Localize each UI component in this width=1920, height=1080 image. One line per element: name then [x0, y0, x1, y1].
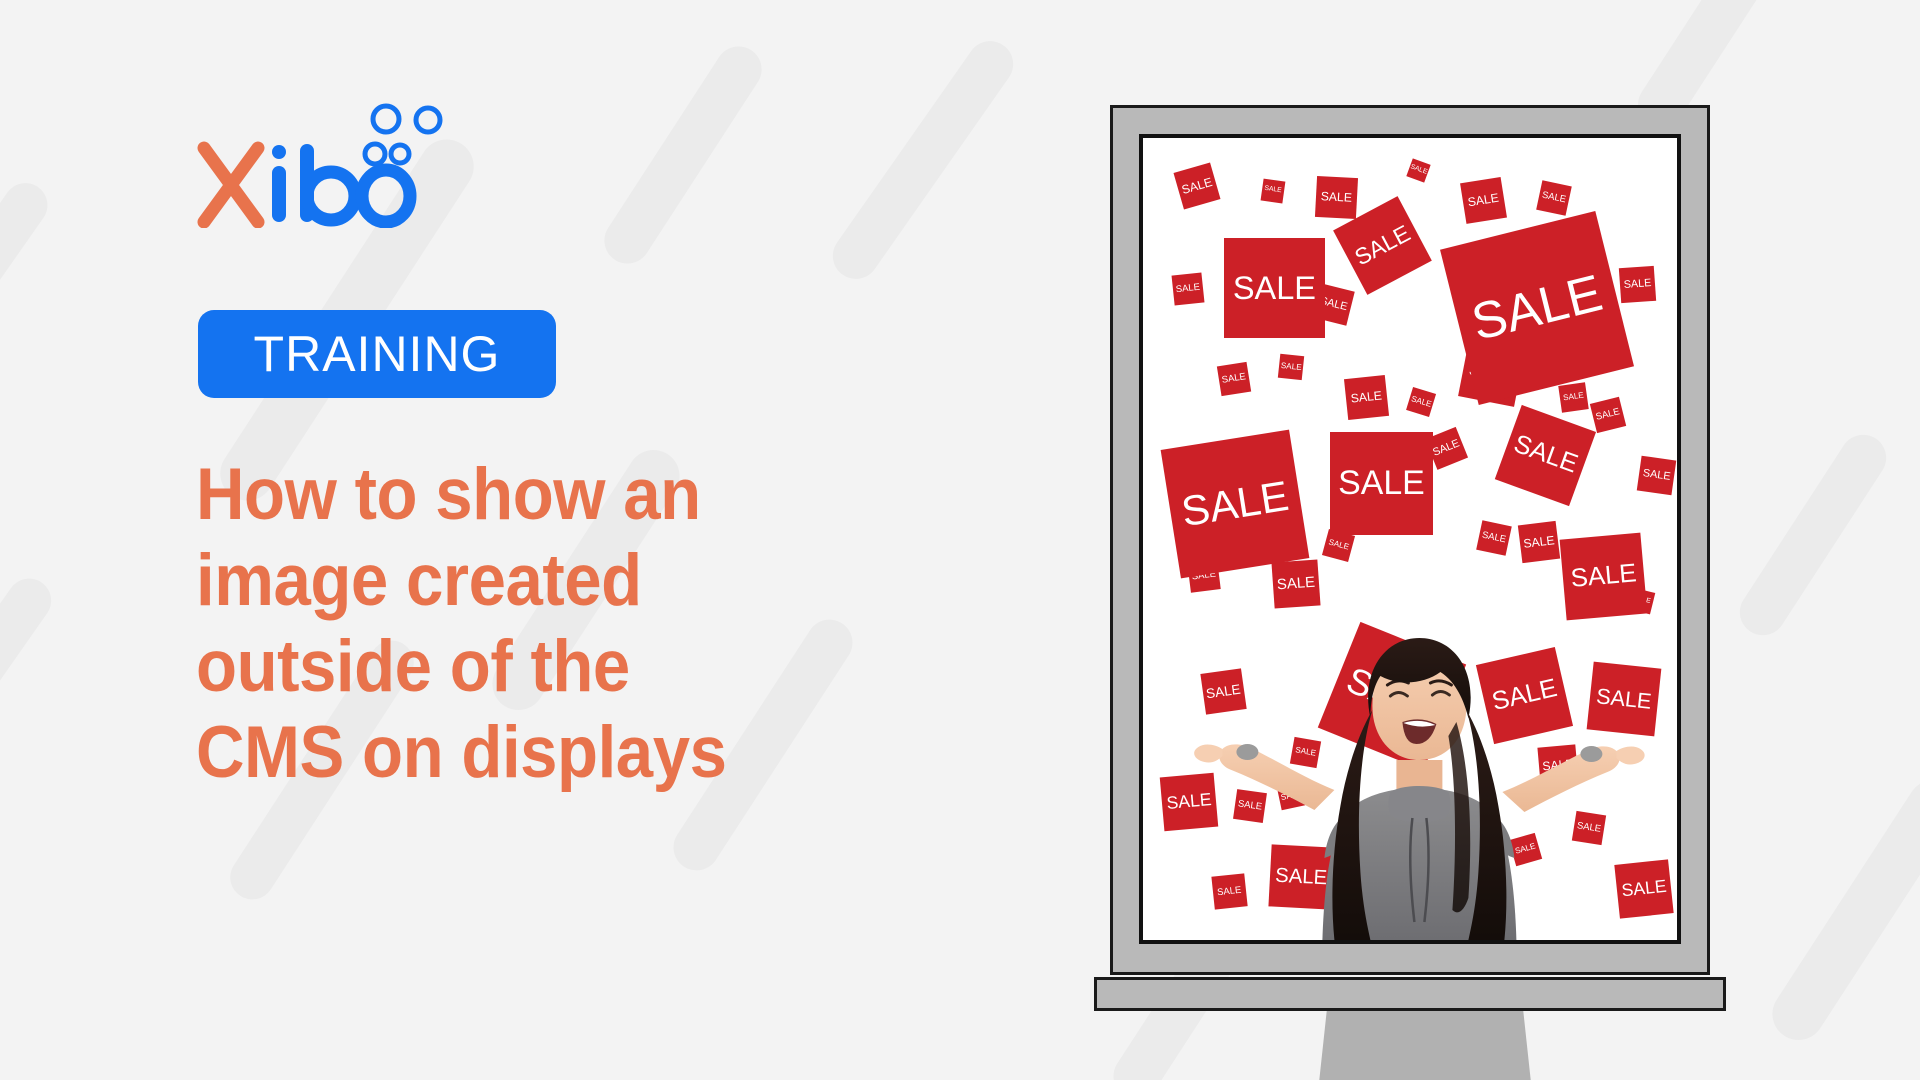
sale-tile-label: SALE: [1432, 438, 1462, 458]
sale-tile-label: SALE: [1541, 191, 1567, 205]
sale-tile-label: SALE: [1233, 272, 1316, 305]
sale-tile: SALE: [1269, 844, 1335, 910]
sale-tile-label: SALE: [1295, 747, 1317, 759]
training-badge[interactable]: TRAINING: [198, 310, 556, 398]
sale-tile-label: SALE: [1338, 467, 1425, 501]
logo-bubble-large-right: [416, 108, 440, 132]
sale-tile-label: SALE: [1350, 390, 1382, 405]
display-stand-bar: [1094, 977, 1726, 1011]
sale-tile: SALE: [1174, 163, 1221, 210]
xibo-logo[interactable]: [196, 96, 456, 226]
sale-tile: SALE: [1590, 397, 1626, 433]
sale-tile: SALE: [1161, 429, 1310, 578]
sale-tile: SALE: [1637, 456, 1677, 496]
sale-tile: SALE: [1212, 873, 1248, 909]
sale-tile: SALE: [1518, 520, 1560, 562]
sale-tile-label: SALE: [1280, 362, 1302, 372]
sale-tile-label: SALE: [1342, 661, 1442, 730]
sale-tile: SALE: [1272, 560, 1321, 609]
decorative-diagonal-bar: [0, 570, 60, 800]
sale-tile: SALE: [1318, 622, 1466, 770]
sale-tile: SALE: [1537, 744, 1578, 785]
sale-tile: SALE: [1330, 432, 1433, 535]
sale-tile: SALE: [1406, 387, 1436, 417]
sale-tile-label: SALE: [1576, 822, 1601, 835]
sale-tile: SALE: [1508, 833, 1542, 867]
sale-tile: SALE: [1200, 669, 1246, 715]
logo-bubbles: [365, 106, 440, 164]
page-title: How to show animage createdoutside of th…: [196, 452, 840, 796]
sale-tile-label: SALE: [1166, 791, 1212, 812]
sale-tile-label: SALE: [1217, 885, 1242, 897]
bracelet-left: [1236, 744, 1258, 760]
sale-tile: SALE: [1276, 782, 1305, 811]
sale-tile: SALE: [1560, 532, 1648, 620]
sale-tile-label: SALE: [1409, 164, 1428, 176]
sale-tile-label: SALE: [1510, 432, 1581, 479]
sale-tile-label: SALE: [1205, 682, 1241, 700]
sale-tile-label: SALE: [1490, 676, 1560, 716]
sale-tile: SALE: [1171, 272, 1204, 305]
sale-tile: SALE: [1261, 179, 1285, 203]
logo-bubble-small-left: [365, 144, 385, 164]
sale-tile-label: SALE: [1563, 392, 1585, 403]
sale-tile-label: SALE: [1410, 395, 1432, 409]
sale-tile-label: SALE: [1327, 539, 1349, 552]
sale-tile-label: SALE: [1280, 790, 1302, 802]
logo-letter-i: [272, 145, 286, 222]
logo-letter-o: [362, 170, 410, 222]
sale-tile-label: SALE: [1351, 222, 1414, 270]
logo-letter-b: [300, 144, 355, 222]
sale-tile-label: SALE: [1181, 176, 1214, 196]
sale-tile-label: SALE: [1275, 865, 1328, 888]
sale-tile: SALE: [1233, 789, 1267, 823]
sale-tile-label: SALE: [1522, 534, 1554, 550]
page-title-line: How to show an: [196, 452, 840, 538]
sale-tile: SALE: [1217, 362, 1251, 396]
sale-tile: SALE: [1619, 266, 1657, 304]
xibo-logo-svg: [196, 96, 456, 228]
sale-tile-label: SALE: [1321, 190, 1353, 204]
sale-tile-label: SALE: [1642, 468, 1671, 483]
sale-tile: SALE: [1344, 375, 1389, 420]
page-title-line: outside of the: [196, 624, 840, 710]
sale-tile: SALE: [1476, 647, 1574, 745]
necklace: [1410, 818, 1414, 922]
sale-tile-label: SALE: [1621, 878, 1668, 900]
display-bezel: SALESALESALESALESALESALESALESALESALESALE…: [1110, 105, 1710, 975]
bracelet-right: [1580, 746, 1602, 762]
sale-tile: SALE: [1587, 661, 1661, 735]
logo-bubble-large-left: [373, 106, 399, 132]
sale-tile: SALE: [1615, 859, 1675, 919]
sale-tile-label: SALE: [1467, 268, 1607, 350]
sale-tile: SALE: [1277, 353, 1304, 380]
decorative-diagonal-bar: [1731, 426, 1895, 644]
sale-tile: SALE: [1290, 737, 1321, 768]
sale-tile-label: SALE: [1467, 192, 1500, 209]
sale-tile-label: SALE: [1481, 530, 1507, 544]
display-stand-neck: [1308, 1011, 1542, 1080]
display-mockup: SALESALESALESALESALESALESALESALESALESALE…: [1110, 105, 1750, 1080]
sale-tile-label: SALE: [1264, 186, 1282, 195]
logo-x-mark: [204, 148, 258, 222]
sale-tile: SALE: [1406, 158, 1430, 182]
sale-tile: SALE: [1536, 180, 1571, 215]
sale-tile-label: SALE: [1570, 560, 1638, 591]
display-screen[interactable]: SALESALESALESALESALESALESALESALESALESALE…: [1139, 134, 1681, 944]
sale-tile-label: SALE: [1595, 407, 1621, 422]
sale-tile: SALE: [1559, 382, 1590, 413]
training-badge-label: TRAINING: [254, 329, 501, 379]
decorative-diagonal-bar: [0, 175, 56, 446]
sale-tile: SALE: [1572, 811, 1606, 845]
sale-tile-label: SALE: [1179, 474, 1292, 532]
sale-tile: SALE: [1160, 772, 1219, 831]
sale-tile: SALE: [1476, 520, 1511, 555]
sale-tile: SALE: [1224, 238, 1324, 338]
logo-bubble-small-right: [391, 145, 409, 163]
sale-tile-label: SALE: [1623, 279, 1651, 292]
sale-tile-label: SALE: [1175, 283, 1200, 295]
page-title-line: image created: [196, 538, 840, 624]
sale-tile: SALE: [1495, 405, 1596, 506]
sale-tile-label: SALE: [1221, 373, 1246, 386]
sale-tile: SALE: [1315, 176, 1358, 219]
sale-tile-label: SALE: [1542, 757, 1574, 772]
woman-collar: [1388, 786, 1450, 823]
sale-tile-label: SALE: [1237, 799, 1262, 812]
slide-canvas: TRAINING How to show animage createdouts…: [0, 0, 1920, 1080]
sale-tile-label: SALE: [1514, 843, 1536, 857]
sale-tile-label: SALE: [1277, 576, 1316, 594]
woman-shirt: [1322, 788, 1516, 940]
page-title-line: CMS on displays: [196, 710, 840, 796]
sale-tile-label: SALE: [1595, 685, 1652, 712]
decorative-diagonal-bar: [1762, 770, 1920, 1050]
sale-tile: SALE: [1460, 177, 1506, 223]
left-content-column: TRAINING How to show animage createdouts…: [196, 0, 956, 1080]
